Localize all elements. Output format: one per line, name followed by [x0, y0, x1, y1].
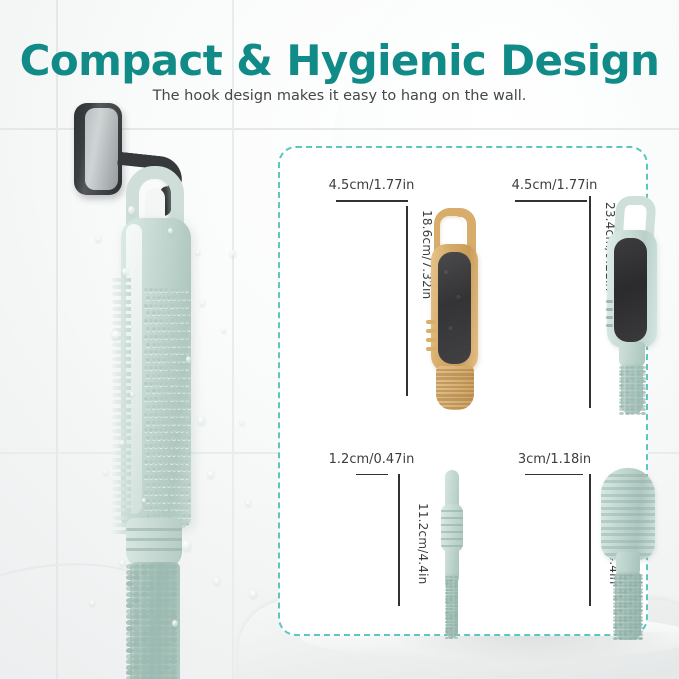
bristle-dot: [185, 397, 189, 401]
bristle-dot: [164, 382, 168, 386]
bristle-dot: [159, 460, 163, 464]
bristle-dot: [162, 343, 166, 347]
bristle-dot: [154, 319, 158, 323]
bristle-dot: [187, 499, 191, 503]
tail-spike: [126, 603, 133, 608]
comb-tooth: [112, 393, 131, 397]
tail-spike: [156, 581, 163, 586]
comb-tooth: [112, 357, 131, 361]
bristle-dot: [149, 382, 153, 386]
bristle-dot: [149, 413, 153, 417]
comb-tooth: [112, 508, 131, 512]
bristle-dot: [144, 366, 148, 370]
bristle-dot: [159, 335, 163, 339]
bristle-dot: [175, 397, 179, 401]
bristle-dot: [175, 428, 179, 432]
foot-file-notch: [426, 320, 436, 324]
tail-spike: [156, 609, 163, 614]
bristle-dot: [175, 335, 179, 339]
comb-tooth: [112, 321, 131, 325]
long-brush-spike: [641, 394, 646, 397]
tail-spike: [126, 648, 133, 653]
slim-brush-spike: [454, 601, 458, 604]
comb-tooth: [112, 379, 131, 383]
water-droplet: [246, 500, 251, 506]
tail-spike: [156, 586, 163, 591]
bristle-dot: [167, 483, 171, 487]
bristle-dot: [144, 475, 148, 479]
bristle-dot: [185, 304, 189, 308]
tail-spike: [156, 592, 163, 597]
tail-spike: [133, 648, 140, 653]
bristle-dot: [182, 436, 186, 440]
bristle-dot: [144, 335, 148, 339]
bristle-dot: [172, 436, 176, 440]
bristle-dot: [144, 319, 148, 323]
long-brush-spike: [625, 401, 630, 404]
comb-tooth: [112, 300, 131, 304]
bristle-dot: [146, 343, 150, 347]
bristle-dot: [164, 460, 168, 464]
bristle-dot: [185, 350, 189, 354]
bristle-dot: [146, 296, 150, 300]
wide-brush-head-ridge: [601, 494, 655, 497]
comb-tooth: [112, 422, 131, 426]
bristle-dot: [185, 460, 189, 464]
bristle-dot: [180, 491, 184, 495]
water-droplet: [230, 250, 236, 257]
tail-spike: [163, 598, 170, 603]
bristle-dot: [164, 366, 168, 370]
bristle-dot: [149, 444, 153, 448]
bristle-dot: [187, 389, 191, 393]
tail-spike: [141, 586, 148, 591]
bristle-dot: [157, 499, 161, 503]
bristle-dot: [162, 311, 166, 315]
tail-spike: [133, 626, 140, 631]
bristle-dot: [170, 475, 174, 479]
tail-spike: [163, 637, 170, 642]
bristle-dot: [149, 335, 153, 339]
tail-spike: [141, 648, 148, 653]
comb-tooth: [112, 458, 131, 462]
bristle-dot: [159, 304, 163, 308]
long-brush-spike: [619, 366, 624, 369]
bristle-dot: [185, 522, 189, 526]
tail-spike: [170, 564, 177, 569]
long-brush-spike: [636, 394, 641, 397]
water-droplet: [122, 268, 128, 276]
bristle-dot: [167, 374, 171, 378]
bristle-dot: [164, 288, 168, 292]
bristle-dot: [167, 343, 171, 347]
bristle-dot: [175, 444, 179, 448]
bristle-dot: [185, 491, 189, 495]
tail-spike: [133, 570, 140, 575]
bristle-dot: [175, 460, 179, 464]
bristle-dot: [187, 514, 191, 518]
bristle-dot: [182, 514, 186, 518]
long-brush-spike: [641, 373, 646, 376]
bristle-dot: [185, 335, 189, 339]
tail-spike: [170, 654, 177, 659]
tail-spike: [141, 631, 148, 636]
bristle-dot: [172, 499, 176, 503]
tail-spike: [156, 654, 163, 659]
bristle-dot: [152, 296, 156, 300]
bristle-dot: [180, 444, 184, 448]
water-droplet: [186, 356, 191, 363]
long-brush-spike: [636, 401, 641, 404]
slim-brush-grip-ring: [441, 510, 463, 512]
tail-spike: [170, 581, 177, 586]
bristle-dot: [154, 382, 158, 386]
bristle-dot: [185, 366, 189, 370]
tail-spike: [126, 598, 133, 603]
bristle-dot: [146, 483, 150, 487]
comb-tooth: [112, 400, 131, 404]
bristle-dot: [172, 421, 176, 425]
bristle-dot: [157, 436, 161, 440]
tail-spike: [141, 665, 148, 670]
bristle-dot: [175, 366, 179, 370]
tail-spike: [141, 620, 148, 625]
comb-tooth: [112, 386, 131, 390]
bristle-dot: [157, 327, 161, 331]
bristle-dot: [187, 327, 191, 331]
slim-brush-spike: [454, 637, 458, 640]
bristle-dot: [164, 335, 168, 339]
comb-tooth: [112, 451, 131, 455]
bristle-dot: [177, 327, 181, 331]
water-droplet: [208, 470, 214, 478]
spec-item-wide-brush: 3cm/1.18in 11.2cm/4.4in: [463, 430, 646, 634]
tail-spike: [126, 659, 133, 664]
wide-brush-spike: [638, 619, 643, 622]
bristle-dot: [172, 327, 176, 331]
wide-brush-spike: [638, 637, 643, 640]
bristle-dot: [154, 491, 158, 495]
wide-brush-head-ridge: [601, 500, 655, 503]
wide-brush-head-ridge: [601, 474, 655, 477]
long-brush-spike: [641, 401, 646, 404]
tail-spike: [163, 592, 170, 597]
comb-tooth: [112, 429, 131, 433]
bristle-dot: [159, 413, 163, 417]
long-brush-spike: [636, 408, 641, 411]
bristle-dot: [164, 491, 168, 495]
slim-brush-spike: [454, 630, 458, 633]
water-droplet: [222, 328, 226, 333]
long-brush-spike: [625, 380, 630, 383]
bristle-dot: [175, 350, 179, 354]
tail-spike: [133, 609, 140, 614]
comb-tooth: [112, 292, 131, 296]
bristle-dot: [164, 350, 168, 354]
bristle-dot: [187, 311, 191, 315]
tail-spike: [141, 570, 148, 575]
bristle-dot: [175, 304, 179, 308]
bristle-dot: [177, 358, 181, 362]
long-brush-spike: [619, 412, 624, 415]
wide-brush-spike: [638, 626, 643, 629]
foot-file-width-label: 4.5cm/1.77in: [280, 178, 463, 193]
bristle-dot: [157, 358, 161, 362]
bristle-dot: [170, 506, 174, 510]
tail-spike: [170, 648, 177, 653]
long-brush-spike: [641, 380, 646, 383]
wide-brush-spike: [638, 598, 643, 601]
bristle-dot: [146, 452, 150, 456]
bristle-dot: [159, 428, 163, 432]
bristle-dot: [146, 467, 150, 471]
bristle-dot: [172, 467, 176, 471]
comb-tooth: [112, 472, 131, 476]
slim-brush-spike: [454, 598, 458, 601]
tail-spike: [156, 603, 163, 608]
long-brush-spike: [619, 380, 624, 383]
bristle-dot: [159, 366, 163, 370]
bristle-dot: [159, 288, 163, 292]
tail-spike: [156, 659, 163, 664]
bristle-dot: [187, 296, 191, 300]
slim-brush-spike: [454, 582, 458, 585]
bristle-dot: [154, 335, 158, 339]
bristle-dot: [154, 506, 158, 510]
comb-tooth: [112, 501, 131, 505]
water-droplet: [182, 540, 191, 551]
bristle-dot: [159, 475, 163, 479]
wide-brush-spike: [638, 577, 643, 580]
infographic-canvas: Compact & Hygienic Design The hook desig…: [0, 0, 679, 679]
wide-brush-head-ridge: [601, 513, 655, 516]
tail-spike: [133, 581, 140, 586]
bristle-dot: [157, 467, 161, 471]
tail-spike: [133, 665, 140, 670]
bristle-dot: [172, 311, 176, 315]
bristle-dot: [170, 444, 174, 448]
bristle-dot: [149, 288, 153, 292]
comb-tooth: [112, 487, 131, 491]
wide-brush-head-ridge: [601, 480, 655, 483]
bristle-dot: [146, 405, 150, 409]
comb-tooth: [112, 364, 131, 368]
bristle-dot: [175, 319, 179, 323]
tail-spike: [141, 654, 148, 659]
bristle-dot: [146, 327, 150, 331]
bristle-dot: [144, 382, 148, 386]
bristle-dot: [152, 467, 156, 471]
bristle-dot: [164, 397, 168, 401]
bristle-dot: [146, 374, 150, 378]
bristle-dot: [182, 343, 186, 347]
bristle-dot: [167, 499, 171, 503]
slim-brush-spike: [454, 605, 458, 608]
wide-brush-head-ridge: [601, 527, 655, 530]
hanging-brush-neck-ring: [126, 528, 182, 531]
hanging-brush-comb-edge: [112, 278, 131, 536]
tail-spike: [163, 665, 170, 670]
bristle-dot: [144, 428, 148, 432]
bristle-dot: [149, 491, 153, 495]
bristle-dot: [162, 467, 166, 471]
tail-spike: [148, 620, 155, 625]
bristle-dot: [182, 499, 186, 503]
bristle-dot: [146, 358, 150, 362]
bristle-dot: [180, 335, 184, 339]
foot-file-width-rule: [336, 200, 408, 202]
bristle-dot: [152, 358, 156, 362]
comb-tooth: [112, 343, 131, 347]
bristle-dot: [157, 389, 161, 393]
bristle-dot: [162, 374, 166, 378]
bristle-dot: [175, 288, 179, 292]
slim-brush-spike: [449, 595, 453, 598]
bristle-dot: [157, 374, 161, 378]
wide-brush-spike: [638, 584, 643, 587]
bristle-dot: [157, 311, 161, 315]
bristle-dot: [187, 343, 191, 347]
tail-spike: [163, 654, 170, 659]
bristle-dot: [170, 366, 174, 370]
wide-brush-head-ridge: [601, 507, 655, 510]
bristle-dot: [144, 288, 148, 292]
bristle-dot: [146, 436, 150, 440]
tail-spike: [133, 598, 140, 603]
page-title: Compact & Hygienic Design: [0, 36, 679, 85]
bristle-dot: [172, 452, 176, 456]
slim-brush-spike: [445, 614, 449, 617]
bristle-dot: [180, 428, 184, 432]
bristle-dot: [180, 304, 184, 308]
bristle-dot: [164, 444, 168, 448]
bristle-dot: [162, 421, 166, 425]
bristle-dot: [185, 475, 189, 479]
long-brush-width-label: 4.5cm/1.77in: [463, 178, 646, 193]
slim-brush-spike: [449, 611, 453, 614]
bristle-dot: [144, 350, 148, 354]
bristle-dot: [180, 460, 184, 464]
tail-spike: [126, 581, 133, 586]
tail-spike: [148, 648, 155, 653]
bristle-dot: [177, 436, 181, 440]
bristle-dot: [172, 358, 176, 362]
long-brush-spike: [625, 366, 630, 369]
tail-spike: [163, 564, 170, 569]
bristle-dot: [175, 506, 179, 510]
slim-brush-spike: [454, 617, 458, 620]
slim-brush-spike: [454, 633, 458, 636]
tail-spike: [156, 614, 163, 619]
tail-spike: [141, 614, 148, 619]
bristle-dot: [157, 452, 161, 456]
bristle-dot: [146, 311, 150, 315]
bristle-dot: [149, 460, 153, 464]
comb-tooth: [112, 307, 131, 311]
bristle-dot: [177, 389, 181, 393]
long-brush-spike: [619, 373, 624, 376]
wide-brush-width-label: 3cm/1.18in: [463, 452, 646, 467]
tail-spike: [163, 631, 170, 636]
long-brush-spike: [636, 387, 641, 390]
tail-spike: [148, 626, 155, 631]
tail-spike: [148, 637, 155, 642]
bristle-dot: [182, 389, 186, 393]
tail-spike: [126, 592, 133, 597]
bristle-dot: [159, 319, 163, 323]
bristle-dot: [170, 304, 174, 308]
bristle-dot: [180, 288, 184, 292]
comb-tooth: [112, 494, 131, 498]
bristle-dot: [164, 506, 168, 510]
bristle-dot: [154, 428, 158, 432]
bristle-dot: [182, 483, 186, 487]
bristle-dot: [162, 436, 166, 440]
tail-spike: [148, 603, 155, 608]
wide-brush-head-ridge: [601, 533, 655, 536]
tail-spike: [148, 598, 155, 603]
tail-spike: [133, 592, 140, 597]
slim-brush-spike: [445, 595, 449, 598]
tail-spike: [141, 603, 148, 608]
bristle-dot: [167, 467, 171, 471]
bristle-dot: [144, 460, 148, 464]
tail-spike: [141, 564, 148, 569]
slim-brush-spike: [445, 579, 449, 582]
bristle-dot: [167, 311, 171, 315]
tail-spike: [170, 592, 177, 597]
long-brush-spike: [619, 394, 624, 397]
tail-spike: [126, 637, 133, 642]
slim-brush-spike: [449, 579, 453, 582]
foot-file-notch: [426, 329, 436, 333]
hanging-brush-neck-ring: [126, 538, 182, 541]
slim-brush-width-rule: [356, 474, 388, 476]
tail-spike: [163, 648, 170, 653]
water-droplet: [130, 392, 134, 397]
long-brush-spike: [625, 394, 630, 397]
wide-brush-product: [593, 468, 665, 640]
slim-brush-spike: [445, 630, 449, 633]
bristle-dot: [152, 421, 156, 425]
water-droplet: [90, 600, 95, 606]
bristle-dot: [177, 296, 181, 300]
bristle-dot: [154, 366, 158, 370]
foot-file-notch: [426, 338, 436, 342]
bristle-dot: [177, 499, 181, 503]
tail-spike: [170, 609, 177, 614]
bristle-dot: [170, 397, 174, 401]
bristle-dot: [162, 483, 166, 487]
tail-spike: [126, 564, 133, 569]
tail-spike: [163, 570, 170, 575]
water-droplet: [128, 206, 135, 215]
bristle-dot: [187, 436, 191, 440]
water-droplet: [214, 578, 220, 585]
tail-spike: [141, 609, 148, 614]
tail-spike: [148, 609, 155, 614]
bristle-dot: [180, 350, 184, 354]
bristle-dot: [149, 428, 153, 432]
bristle-dot: [185, 288, 189, 292]
wide-brush-head: [601, 468, 655, 560]
bristle-dot: [170, 382, 174, 386]
bristle-dot: [152, 499, 156, 503]
slim-brush-spike: [445, 582, 449, 585]
tail-spike: [141, 592, 148, 597]
bristle-dot: [146, 499, 150, 503]
comb-tooth: [112, 415, 131, 419]
